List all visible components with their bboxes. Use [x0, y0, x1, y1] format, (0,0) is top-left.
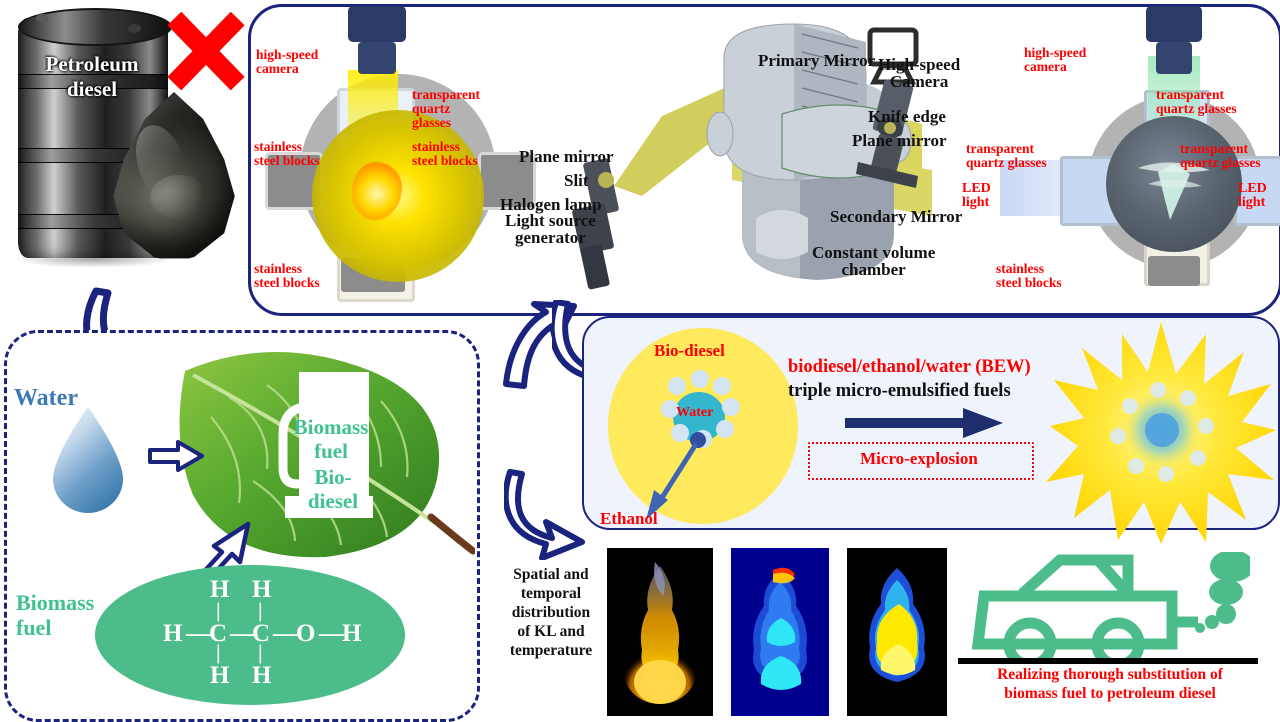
label-plane-mirror-right: Plane mirror — [852, 132, 947, 149]
label-stainless-steel-blocks-west: stainless steel blocks — [254, 140, 320, 168]
micro-explosion-burst-icon — [1046, 322, 1276, 544]
high-speed-camera-lens-left — [358, 42, 396, 74]
water-droplet-icon — [45, 405, 131, 513]
flame-image-kl-factor — [731, 548, 829, 716]
label-spatial-temporal-distribution: Spatial and temporal distribution of KL … — [492, 566, 610, 661]
surfactant-particle — [716, 420, 734, 438]
pump-display-window — [286, 372, 350, 412]
surfactant-particle — [713, 377, 731, 395]
label-high-speed-camera-centre: High-speed Camera — [878, 56, 960, 91]
headline-bew-red: biodiesel/ethanol/water (BEW) — [788, 358, 1031, 377]
flame-image-natural-luminosity — [607, 548, 713, 716]
label-knife-edge: Knife edge — [868, 108, 946, 125]
drum-bung-icon — [128, 24, 141, 33]
surfactant-particle — [722, 398, 740, 416]
molecule-bond: — — [186, 620, 211, 648]
molecule-o: O — [296, 620, 315, 648]
label-slit: Slit — [564, 172, 589, 189]
green-pickup-truck-icon — [960, 552, 1250, 662]
label-stainless-steel-blocks-east: stainless steel blocks — [412, 140, 478, 168]
high-speed-camera-lens-right — [1156, 42, 1192, 74]
label-micro-explosion: Micro-explosion — [808, 450, 1030, 467]
label-water: Water — [14, 386, 78, 410]
high-speed-camera-body-left — [348, 6, 406, 42]
label-quartz-glasses-east: transparent quartz glasses — [1180, 142, 1261, 170]
molecule-bond: — — [319, 620, 344, 648]
label-transparent-quartz-glasses-left: transparent quartz glasses — [412, 88, 480, 129]
label-quartz-glasses-top-right: transparent quartz glasses — [1156, 88, 1237, 116]
label-light-source-generator: Light source generator — [505, 212, 596, 247]
molecule-h-right: H — [342, 620, 361, 648]
red-x-cross-icon — [162, 8, 250, 96]
label-quartz-glasses-west: transparent quartz glasses — [966, 142, 1047, 170]
petroleum-drum-label: Petroleum diesel — [22, 52, 162, 102]
transition-arrow — [845, 406, 1005, 440]
ground-line — [958, 658, 1258, 664]
molecule-h-left: H — [163, 620, 182, 648]
label-primary-mirror: Primary Mirror — [758, 52, 875, 69]
molecule-h-bottom-left: H — [210, 662, 229, 690]
surfactant-particle — [668, 377, 686, 395]
label-high-speed-camera-right: high-speed camera — [1024, 46, 1086, 74]
label-biomass-fuel: Biomass fuel — [16, 590, 94, 641]
molecule-bond: — — [273, 620, 298, 648]
label-stainless-steel-blocks-south: stainless steel blocks — [254, 262, 320, 290]
stainless-steel-block-right — [1148, 256, 1200, 286]
caption-thorough-substitution: Realizing thorough substitution of bioma… — [948, 666, 1272, 703]
headline-bew-black: triple micro-emulsified fuels — [788, 382, 1011, 401]
label-water-core: Water — [676, 406, 713, 420]
label-stainless-steel-blocks-right: stainless steel blocks — [996, 262, 1062, 290]
high-speed-camera-body-right — [1146, 6, 1202, 42]
oil-droplet-highlight — [150, 175, 208, 219]
arrow-water-to-leaf — [148, 440, 204, 472]
molecule-h-bottom-right: H — [252, 662, 271, 690]
label-led-light-left: LED light — [962, 182, 991, 211]
label-high-speed-camera-left: high-speed camera — [256, 48, 318, 76]
surfactant-particle — [691, 370, 709, 388]
drum-bung-icon — [36, 14, 48, 22]
label-constant-volume-chamber: Constant volume chamber — [812, 244, 935, 279]
label-secondary-mirror: Secondary Mirror — [830, 208, 962, 225]
arrow-down-to-results — [504, 468, 586, 560]
label-bio-diesel: Bio-diesel — [654, 342, 725, 359]
pump-label-bio-diesel: Bio- diesel — [294, 466, 372, 513]
label-plane-mirror-left: Plane mirror — [519, 148, 614, 165]
flame-image-temperature — [847, 548, 947, 716]
label-ethanol: Ethanol — [600, 510, 658, 527]
label-led-light-right: LED light — [1238, 182, 1267, 211]
pump-label-biomass-fuel: Biomass fuel — [292, 416, 370, 463]
